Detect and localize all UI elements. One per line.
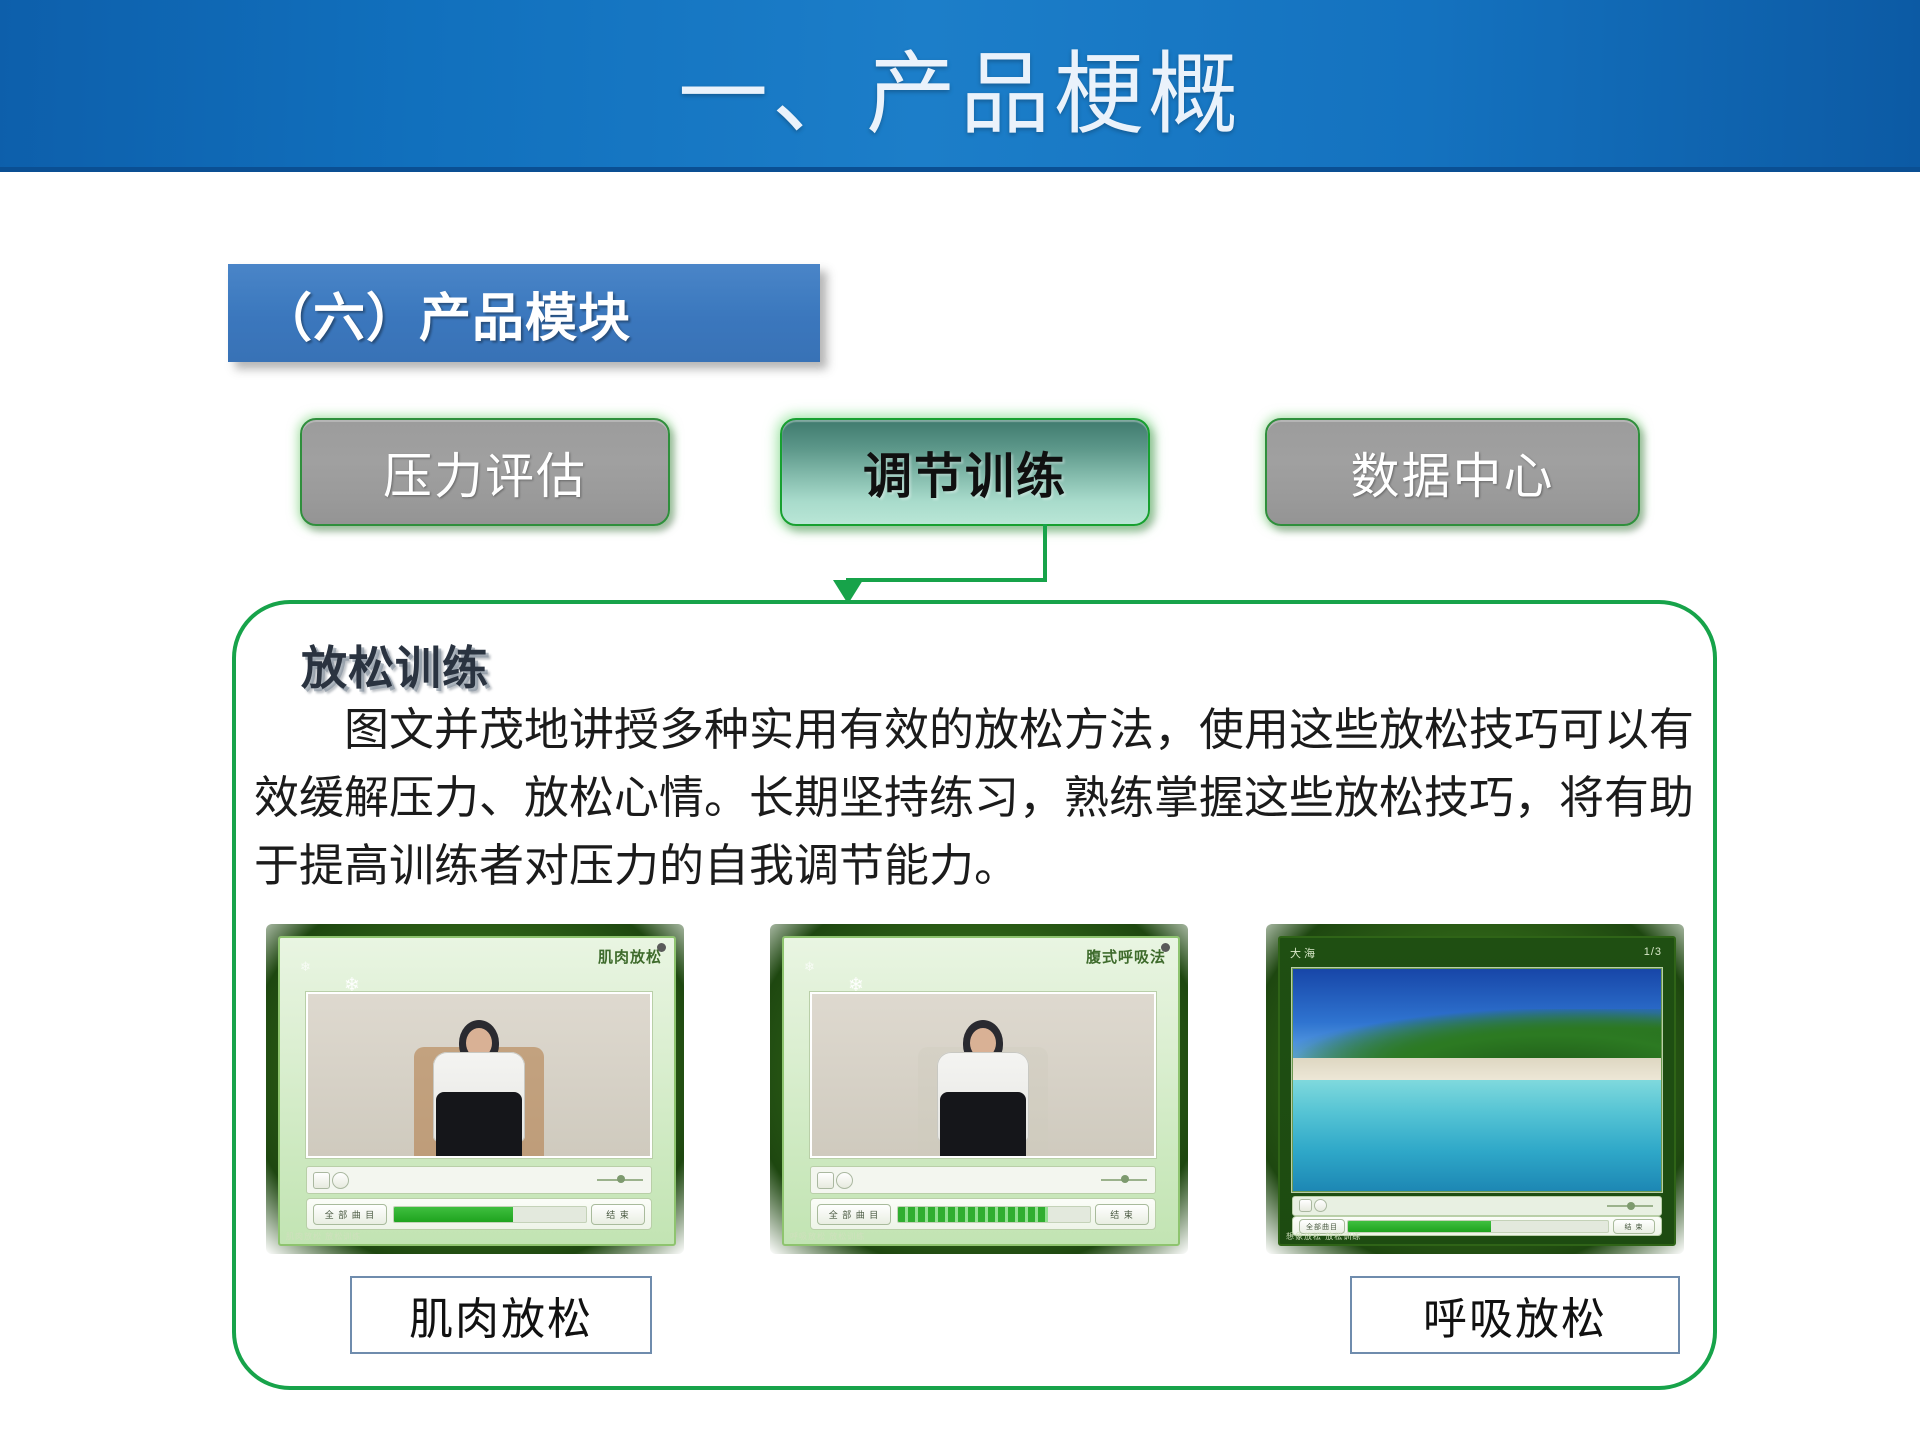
progress-row: 全 部 曲 目 结 束 — [810, 1198, 1156, 1230]
video-area — [1292, 968, 1662, 1192]
panel-paragraph: 图文并茂地讲授多种实用有效的放松方法，使用这些放松技巧可以有效缓解压力、放松心情… — [254, 696, 1702, 900]
module-button-label: 压力评估 — [383, 437, 587, 508]
video-area — [810, 992, 1156, 1158]
progress-fill — [898, 1207, 1048, 1222]
progress-track[interactable] — [897, 1206, 1091, 1223]
module-button-row: 压力评估 调节训练 数据中心 — [300, 418, 1640, 530]
module-button-data-center[interactable]: 数据中心 — [1265, 418, 1640, 526]
water-shape — [1293, 1080, 1661, 1191]
progress-fill — [1348, 1221, 1491, 1232]
thumbnail-caption-label: 呼吸放松 — [1423, 1283, 1607, 1347]
panel-heading: 放松训练 — [301, 632, 489, 698]
page-title: 一、产品梗概 — [0, 0, 1920, 172]
thumbnail-breathing-relaxation[interactable]: ❄ ❄ 腹式呼吸法 — [770, 924, 1188, 1254]
module-button-label: 调节训练 — [863, 437, 1067, 508]
connector-arrow-icon — [800, 524, 1060, 606]
video-area — [306, 992, 652, 1158]
finish-button[interactable]: 结 束 — [1095, 1204, 1149, 1225]
finish-button[interactable]: 结 束 — [1613, 1219, 1655, 1234]
person-legs-shape — [940, 1092, 1026, 1156]
volume-knob[interactable] — [1627, 1202, 1635, 1210]
playlist-button[interactable]: 全 部 曲 目 — [313, 1204, 387, 1225]
module-button-label: 数据中心 — [1350, 437, 1554, 508]
player-control-strip[interactable] — [306, 1166, 652, 1194]
dove-icon: ❄ — [300, 960, 311, 973]
player-control-strip[interactable] — [1292, 1196, 1662, 1216]
player-control-strip[interactable] — [810, 1166, 1156, 1194]
content-panel: 放松训练 图文并茂地讲授多种实用有效的放松方法，使用这些放松技巧可以有效缓解压力… — [232, 600, 1717, 1390]
section-title-plate: （六）产品模块 — [228, 264, 820, 362]
volume-knob[interactable] — [617, 1175, 625, 1183]
app-screenshot: 大 海 1/3 — [1266, 924, 1684, 1254]
volume-knob[interactable] — [1121, 1175, 1129, 1183]
progress-row: 全 部 曲 目 结 束 — [306, 1198, 652, 1230]
progress-track[interactable] — [393, 1206, 587, 1223]
connector-arrow — [800, 524, 1060, 606]
screen-footnote: 肌肉放松 放松训练 — [286, 1231, 361, 1242]
thumbnail-gallery: ❄ ❄ 肌肉放松 — [236, 924, 1713, 1384]
app-screen: ❄ ❄ 肌肉放松 — [278, 936, 676, 1246]
app-screen: 大 海 1/3 — [1278, 936, 1676, 1246]
app-screenshot: ❄ ❄ 腹式呼吸法 — [770, 924, 1188, 1254]
thumbnail-imagery-relaxation[interactable]: 大 海 1/3 — [1266, 924, 1684, 1254]
play-button-icon[interactable] — [817, 1172, 834, 1189]
play-button-icon[interactable] — [313, 1172, 330, 1189]
dove-icon: ❄ — [804, 960, 815, 973]
stop-button-icon[interactable] — [1314, 1199, 1327, 1212]
finish-button[interactable]: 结 束 — [591, 1204, 645, 1225]
slide-root: 一、产品梗概 （六）产品模块 压力评估 调节训练 数据中心 放松训练 图文并茂地… — [0, 0, 1920, 1440]
person-legs-shape — [436, 1092, 522, 1156]
screen-title-left: 大 海 — [1290, 945, 1315, 961]
section-title-label: （六）产品模块 — [260, 276, 631, 351]
thumbnail-muscle-relaxation[interactable]: ❄ ❄ 肌肉放松 — [266, 924, 684, 1254]
module-button-stress-assessment[interactable]: 压力评估 — [300, 418, 670, 526]
stop-button-icon[interactable] — [836, 1172, 853, 1189]
thumbnail-caption-label: 肌肉放松 — [409, 1283, 593, 1347]
progress-fill — [394, 1207, 513, 1222]
play-button-icon[interactable] — [1299, 1199, 1312, 1212]
screen-footnote: 想象放松 放松训练 — [1286, 1231, 1361, 1242]
screen-title: 腹式呼吸法 — [1086, 946, 1166, 967]
screen-title: 1/3 — [1644, 946, 1662, 958]
stop-button-icon[interactable] — [332, 1172, 349, 1189]
screen-title: 肌肉放松 — [598, 946, 662, 967]
module-button-regulation-training[interactable]: 调节训练 — [780, 418, 1150, 526]
playlist-button[interactable]: 全 部 曲 目 — [817, 1204, 891, 1225]
app-screen: ❄ ❄ 腹式呼吸法 — [782, 936, 1180, 1246]
thumbnail-caption-box: 呼吸放松 — [1350, 1276, 1680, 1354]
progress-track[interactable] — [1347, 1220, 1609, 1233]
screen-footnote: 呼吸放松 放松训练 — [790, 1231, 865, 1242]
thumbnail-caption-box: 肌肉放松 — [350, 1276, 652, 1354]
app-screenshot: ❄ ❄ 肌肉放松 — [266, 924, 684, 1254]
